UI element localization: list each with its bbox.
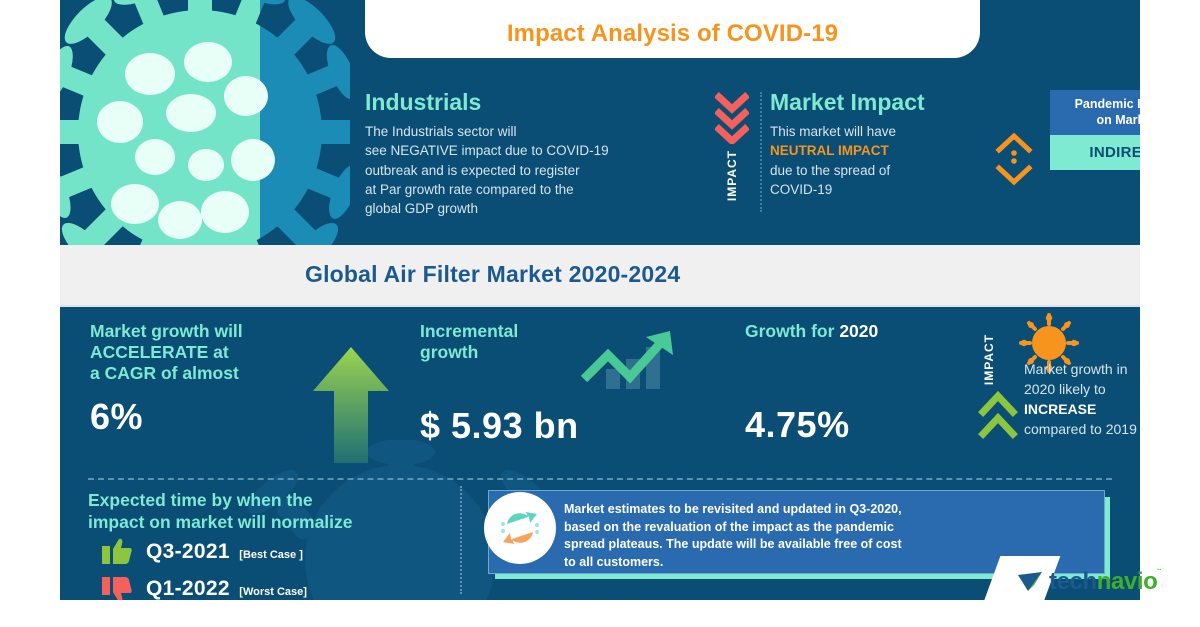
- metric-growth-2020-label: Growth for 2020: [745, 321, 995, 342]
- header-divider-1: [760, 92, 762, 212]
- double-up-chevron-icon: [978, 386, 1018, 442]
- up-arrow-icon: [312, 345, 390, 463]
- refresh-cycle-icon: [497, 505, 543, 551]
- industrials-body: The Industrials sector will see NEGATIVE…: [365, 122, 705, 218]
- infographic-canvas: Impact Analysis of COVID-19 Industrials …: [0, 0, 1200, 627]
- note-line-1: Market estimates to be revisited and upd…: [564, 501, 1084, 519]
- metric-growth-2020: Growth for 2020 4.75%: [745, 321, 995, 446]
- metric-cagr-label-line-2: ACCELERATE at: [90, 342, 340, 363]
- thumbs-down-icon: [102, 575, 132, 600]
- pandemic-impact-title: Pandemic Impact on Market: [1050, 90, 1140, 135]
- bottom-divider: [460, 486, 462, 594]
- right-impact-block: IMPACT: [980, 312, 1140, 472]
- market-impact-line-3: COVID-19: [770, 180, 1010, 199]
- market-impact-line-2: due to the spread of: [770, 161, 1010, 180]
- technavio-wordmark: technavio¨: [1049, 568, 1160, 596]
- normalize-title-line-2: impact on market will normalize: [88, 512, 433, 534]
- technavio-logo: technavio¨: [1018, 568, 1160, 596]
- normalize-title-line-1: Expected time by when the: [88, 490, 433, 512]
- metric-growth-2020-label-line-1: Growth for: [745, 321, 834, 341]
- best-case-label: [Best Case ]: [239, 549, 303, 561]
- market-impact-highlight: NEUTRAL IMPACT: [770, 143, 889, 158]
- note-badge: [484, 492, 556, 564]
- metric-incremental-value: $ 5.93 bn: [420, 405, 670, 447]
- header-section: Impact Analysis of COVID-19 Industrials …: [60, 0, 1140, 245]
- market-impact-line-1: This market will have: [770, 122, 1010, 141]
- metric-growth-2020-value: 4.75%: [745, 404, 995, 446]
- worst-case-row: Q1-2022 [Worst Case]: [102, 575, 307, 600]
- note-line-2: based on the revaluation of the impact a…: [564, 519, 1084, 537]
- right-impact-highlight: INCREASE: [1024, 401, 1096, 417]
- right-impact-label-vertical: IMPACT: [982, 334, 996, 385]
- industrials-block: Industrials The Industrials sector will …: [365, 90, 705, 218]
- metric-cagr-label: Market growth will ACCELERATE at a CAGR …: [90, 321, 340, 384]
- neutral-impact-icon: [992, 130, 1036, 188]
- market-title: Global Air Filter Market 2020-2024: [305, 261, 680, 288]
- title-plate: Impact Analysis of COVID-19: [365, 0, 980, 58]
- industrials-line-1: The Industrials sector will: [365, 122, 705, 141]
- best-case-quarter: Q3-2021: [146, 540, 230, 563]
- growth-chart-icon: [578, 329, 678, 391]
- right-impact-line-1: Market growth in: [1024, 360, 1140, 380]
- market-impact-heading: Market Impact: [770, 90, 1010, 115]
- metric-cagr: Market growth will ACCELERATE at a CAGR …: [90, 321, 340, 438]
- section-divider-dashed: [88, 478, 1112, 480]
- impact-indicator-negative: IMPACT: [710, 92, 754, 217]
- technavio-arrow-icon: [1018, 571, 1044, 593]
- triple-down-chevron-icon: [715, 92, 749, 144]
- metric-cagr-value: 6%: [90, 396, 340, 438]
- impact-label-vertical: IMPACT: [725, 150, 739, 201]
- worst-case-label: [Worst Case]: [239, 586, 307, 598]
- metric-cagr-label-line-1: Market growth will: [90, 321, 340, 342]
- covid-virus-illustration: [60, 0, 350, 282]
- thumbs-up-icon: [102, 538, 132, 566]
- right-impact-line-2: 2020 likely to: [1024, 380, 1140, 400]
- industrials-heading: Industrials: [365, 90, 705, 115]
- right-impact-text: Market growth in 2020 likely to INCREASE…: [1024, 360, 1140, 440]
- note-line-3: spread plateaus. The update will be avai…: [564, 536, 1084, 554]
- normalize-title: Expected time by when the impact on mark…: [88, 490, 433, 534]
- industrials-line-3: outbreak and is expected to register: [365, 161, 705, 180]
- technavio-tm: ¨: [1157, 568, 1160, 579]
- right-impact-line-3: compared to 2019: [1024, 420, 1140, 440]
- pandemic-impact-value: INDIRECT: [1050, 135, 1140, 170]
- market-impact-block: Market Impact This market will have NEUT…: [770, 90, 1010, 199]
- metric-growth-2020-label-line-2: 2020: [839, 321, 878, 341]
- page-title: Impact Analysis of COVID-19: [507, 20, 838, 58]
- worst-case-quarter: Q1-2022: [146, 577, 230, 600]
- market-impact-body: This market will have NEUTRAL IMPACT due…: [770, 122, 1010, 199]
- industrials-line-5: global GDP growth: [365, 199, 705, 218]
- industrials-line-2: see NEGATIVE impact due to COVID-19: [365, 141, 705, 160]
- technavio-navio: navio: [1097, 568, 1158, 595]
- pandemic-impact-title-line-2: on Market: [1056, 113, 1140, 129]
- technavio-tech: tech: [1049, 568, 1097, 595]
- main-panel: Impact Analysis of COVID-19 Industrials …: [60, 0, 1140, 600]
- pandemic-impact-box: Pandemic Impact on Market INDIRECT: [1050, 90, 1140, 170]
- metric-cagr-label-line-3: a CAGR of almost: [90, 363, 340, 384]
- pandemic-impact-title-line-1: Pandemic Impact: [1056, 97, 1140, 113]
- industrials-line-4: at Par growth rate compared to the: [365, 180, 705, 199]
- market-title-band: Global Air Filter Market 2020-2024: [60, 245, 1140, 307]
- best-case-row: Q3-2021 [Best Case ]: [102, 538, 303, 566]
